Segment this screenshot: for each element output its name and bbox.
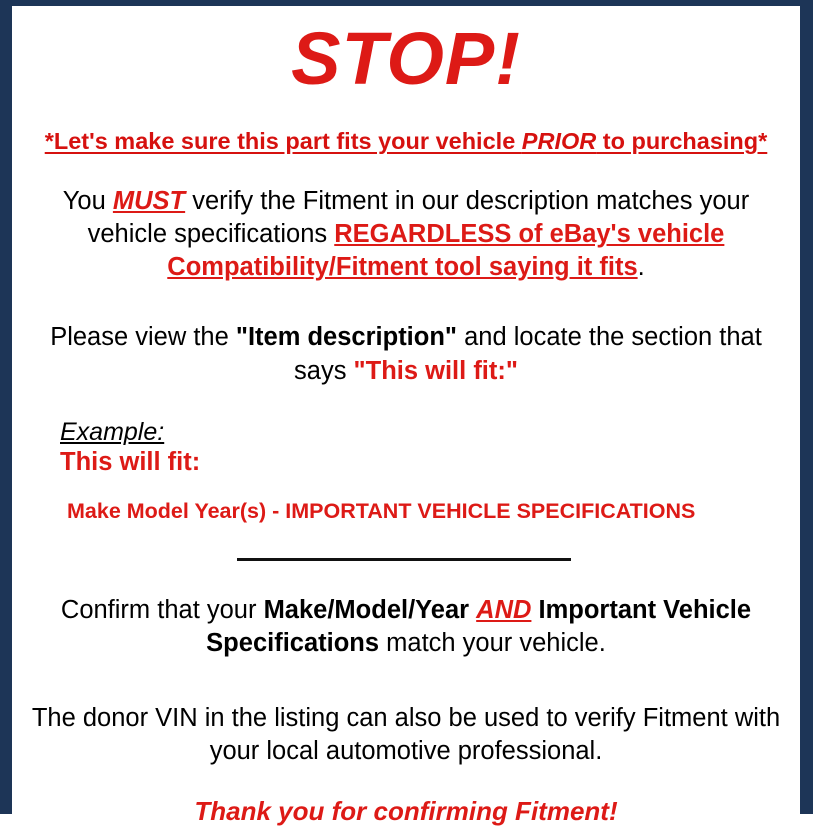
- confirm-text-seg1: Confirm that your: [61, 596, 264, 624]
- example-label-row: Example:: [60, 418, 790, 446]
- fitment-notice-card: STOP! *Let's make sure this part fits yo…: [0, 0, 813, 814]
- paragraph-must-verify: You MUST verify the Fitment in our descr…: [22, 185, 790, 284]
- notice-inner-panel: STOP! *Let's make sure this part fits yo…: [12, 22, 800, 816]
- this-will-fit-emphasis: "This will fit:": [354, 357, 518, 385]
- and-emphasis: AND: [476, 596, 531, 624]
- example-label: Example:: [60, 418, 164, 446]
- headline-text-part1: *Let's make sure this part fits your veh…: [45, 128, 522, 154]
- paragraph-item-description: Please view the "Item description" and l…: [22, 321, 790, 387]
- closing-thank-you: Thank you for confirming Fitment!: [22, 796, 790, 827]
- headline-banner: *Let's make sure this part fits your veh…: [22, 128, 790, 155]
- paragraph-confirm: Confirm that your Make/Model/Year AND Im…: [22, 594, 790, 660]
- example-spec-line: Make Model Year(s) - IMPORTANT VEHICLE S…: [60, 499, 790, 525]
- must-emphasis: MUST: [113, 187, 185, 215]
- paragraph-donor-vin: The donor VIN in the listing can also be…: [22, 702, 790, 768]
- divider-wrapper: [22, 548, 790, 560]
- headline-emphasis-prior: PRIOR: [522, 128, 596, 154]
- confirm-text-seg4: match your vehicle.: [379, 629, 606, 657]
- make-model-year-emphasis: Make/Model/Year: [264, 596, 470, 624]
- confirm-text-seg3: [531, 596, 538, 624]
- desc-text-seg1: Please view the: [50, 323, 236, 351]
- must-text-seg3: .: [638, 253, 645, 281]
- must-text-seg1: You: [63, 187, 113, 215]
- horizontal-divider: [237, 558, 571, 561]
- item-description-emphasis: "Item description": [236, 323, 457, 351]
- example-block: Example: This will fit: Make Model Year(…: [22, 418, 790, 525]
- example-fit-heading: This will fit:: [60, 447, 790, 477]
- page-title: STOP!: [22, 22, 790, 96]
- headline-text-part2: to purchasing*: [596, 128, 767, 154]
